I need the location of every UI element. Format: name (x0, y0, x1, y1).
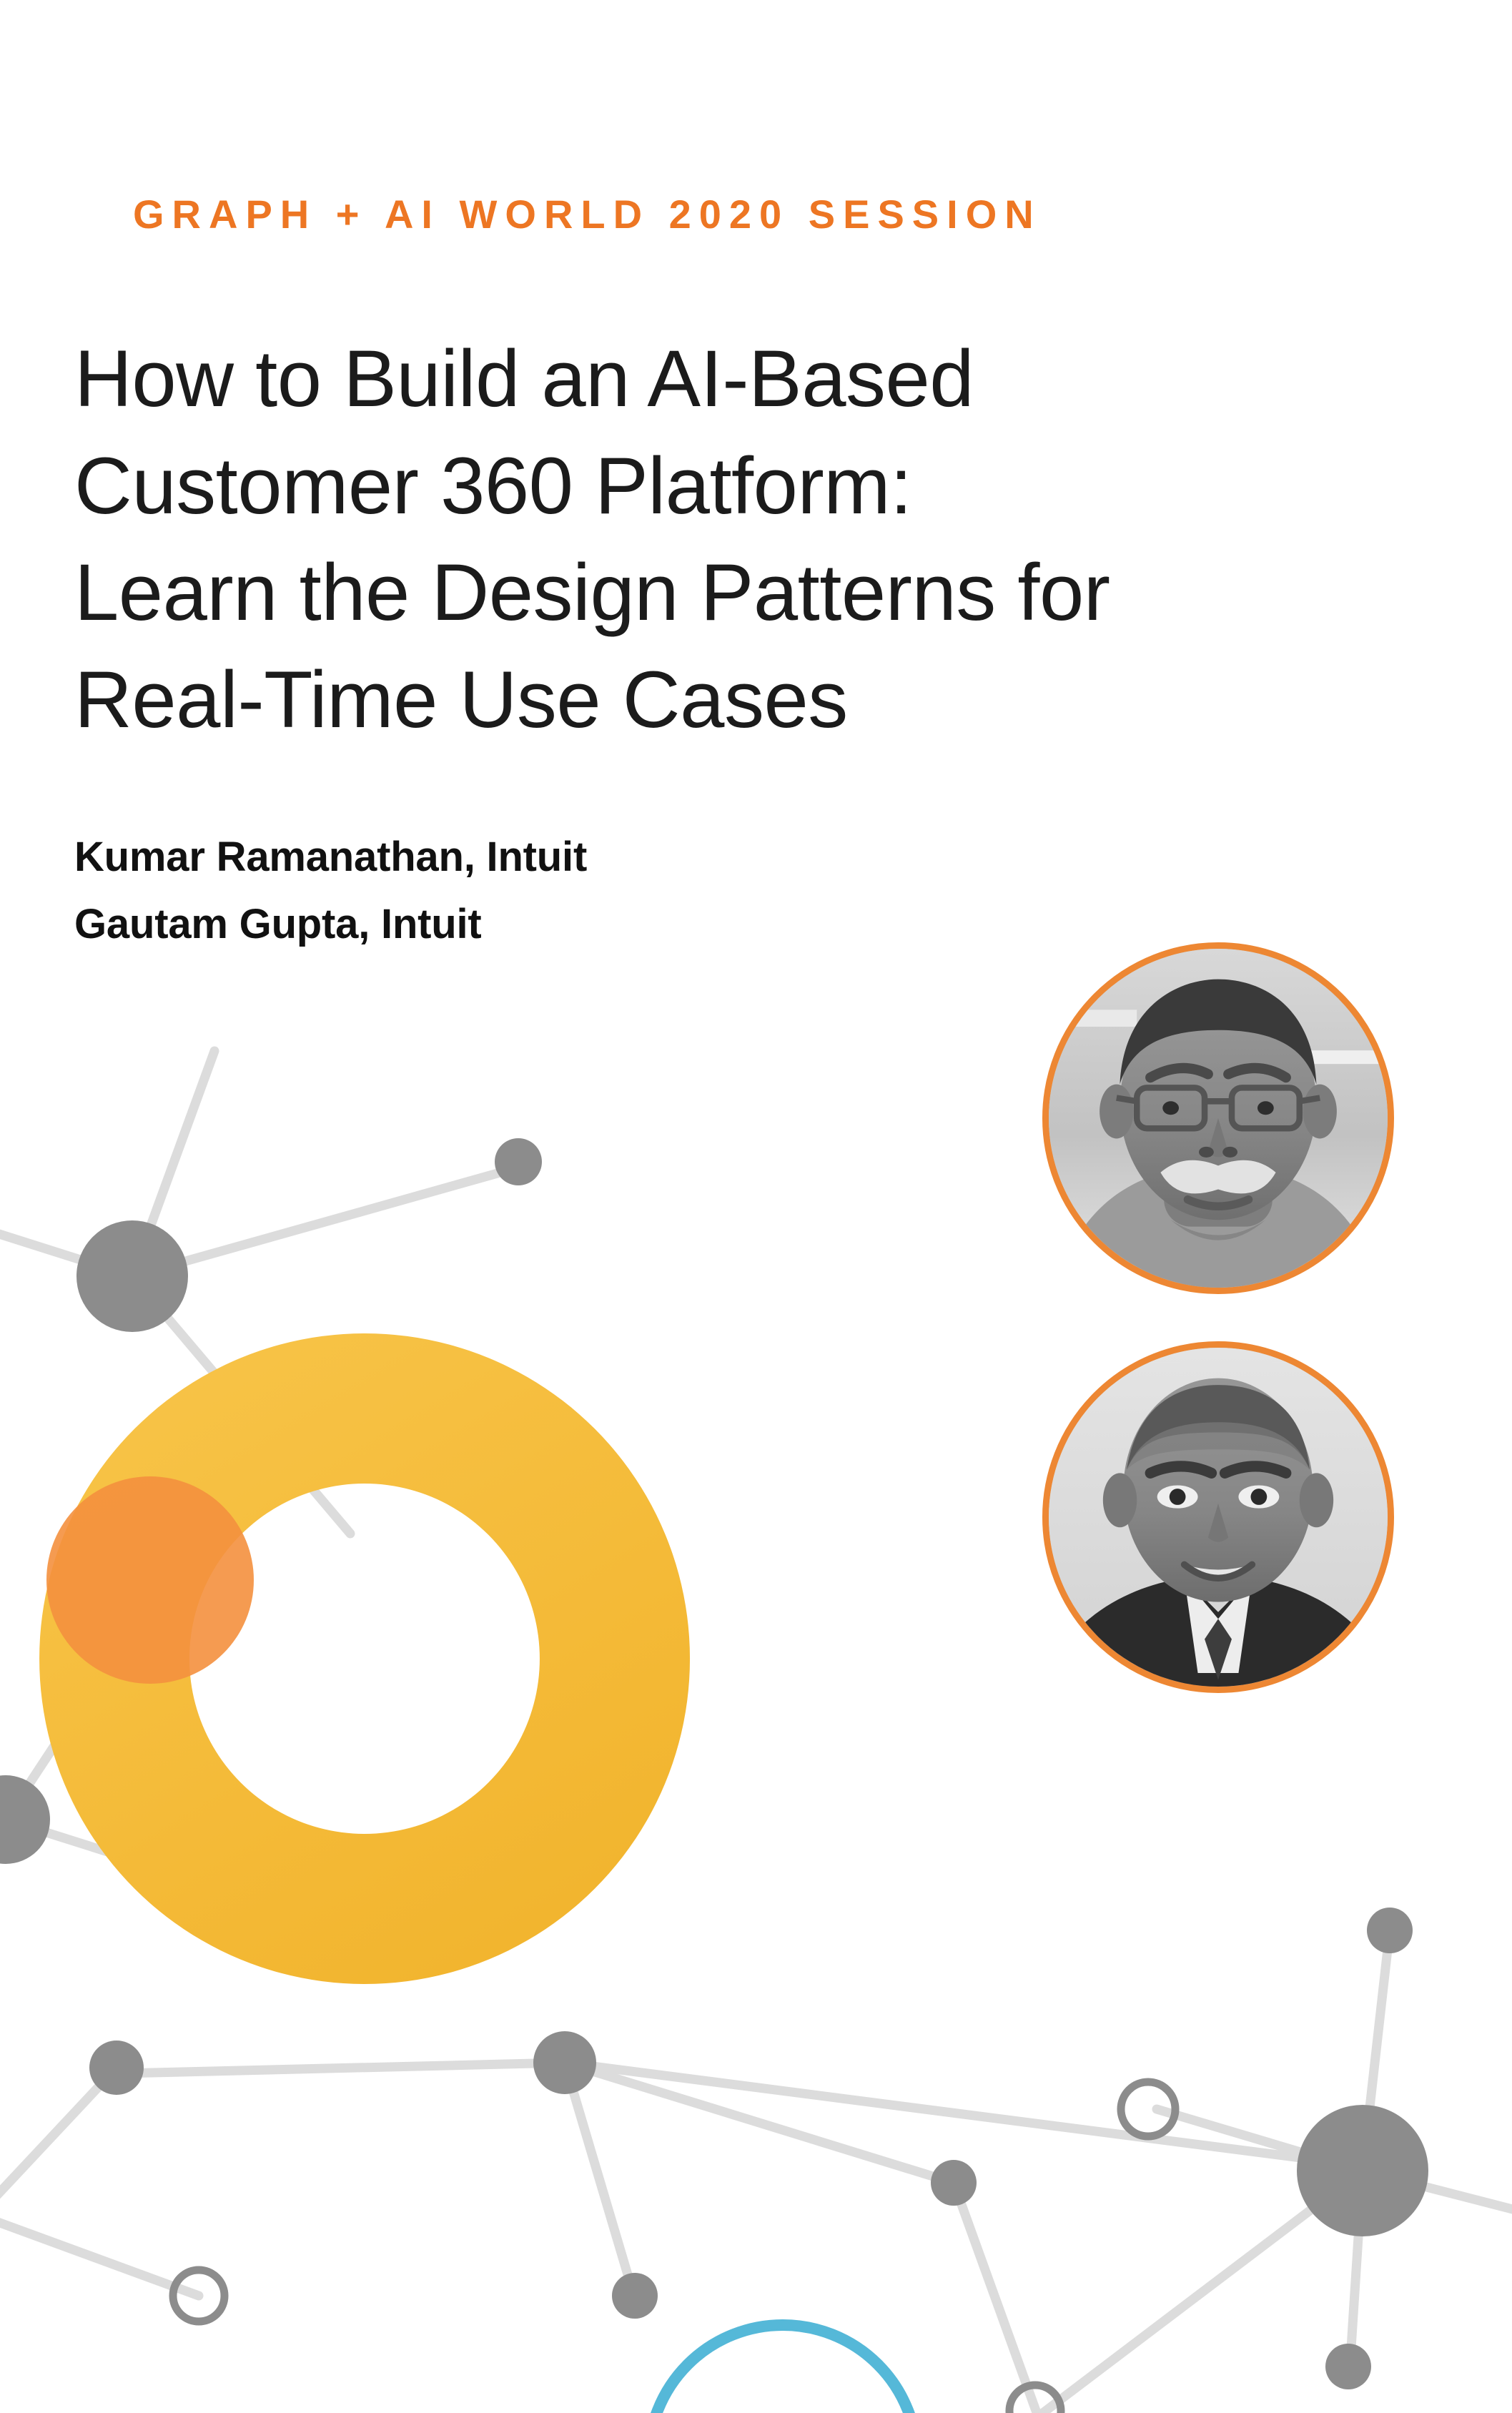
speaker-1-name-org: Kumar Ramanathan, Intuit (74, 824, 587, 891)
title-line-3: Learn the Design Patterns for (74, 539, 1311, 646)
title-line-1: How to Build an AI-Based (74, 325, 1311, 433)
title-line-2: Customer 360 Platform: (74, 433, 1311, 540)
poster-content: GRAPH + AI WORLD 2020 SESSION How to Bui… (0, 0, 1512, 2413)
title-line-4: Real-Time Use Cases (74, 646, 1311, 754)
session-poster: GRAPH + AI WORLD 2020 SESSION How to Bui… (0, 0, 1512, 2413)
event-eyebrow-label: GRAPH + AI WORLD 2020 SESSION (133, 194, 1042, 235)
avatar-speaker-kumar-ramanathan (1042, 942, 1394, 1294)
speaker-list: Kumar Ramanathan, Intuit Gautam Gupta, I… (74, 824, 587, 958)
avatar-speaker-gautam-gupta (1042, 1341, 1394, 1693)
speaker-2-name-org: Gautam Gupta, Intuit (74, 891, 587, 958)
portrait-photo-gautam (1049, 1348, 1388, 1687)
portrait-photo-kumar (1049, 949, 1388, 1288)
page-title: How to Build an AI-Based Customer 360 Pl… (74, 325, 1311, 753)
